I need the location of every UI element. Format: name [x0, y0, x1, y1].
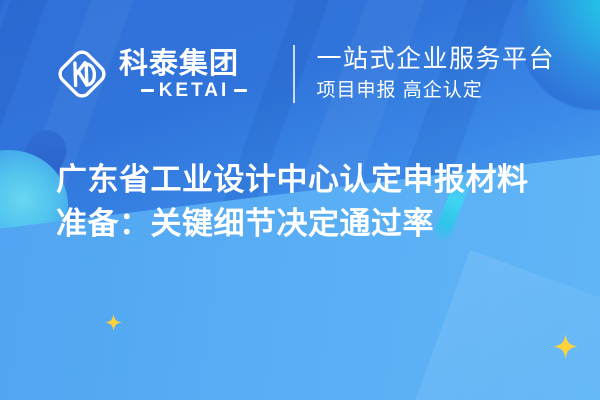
dash-right — [234, 89, 247, 93]
page-title-line-2: 准备：关键细节决定通过率 — [56, 202, 566, 246]
brand-wordmark: 科泰集团 KETAI — [119, 48, 269, 100]
brand-name-cn: 科泰集团 — [119, 48, 269, 78]
tagline-main: 一站式企业服务平台 — [317, 45, 556, 73]
page-title-line-1: 广东省工业设计中心认定申报材料 — [56, 158, 566, 202]
brand-logo[interactable]: 科泰集团 KETAI — [54, 46, 269, 102]
page-title: 广东省工业设计中心认定申报材料 准备：关键细节决定通过率 — [56, 158, 566, 246]
tagline-sub: 项目申报 高企认定 — [317, 80, 556, 103]
banner-header: 科泰集团 KETAI 一站式企业服务平台 项目申报 高企认定 — [0, 34, 600, 114]
brand-name-en: KETAI — [159, 81, 230, 100]
header-divider — [293, 45, 295, 103]
promo-banner: 科泰集团 KETAI 一站式企业服务平台 项目申报 高企认定 广东省工业设计中心… — [0, 0, 600, 400]
sparkle-large-icon — [553, 334, 578, 364]
brand-name-en-row: KETAI — [141, 81, 248, 100]
tagline-block: 一站式企业服务平台 项目申报 高企认定 — [317, 45, 556, 103]
ketai-diamond-kd-monogram-icon — [54, 46, 110, 102]
sparkle-small-icon — [105, 314, 122, 336]
brand-name-cn-text: 科泰集团 — [119, 48, 239, 78]
dash-left — [141, 89, 154, 93]
